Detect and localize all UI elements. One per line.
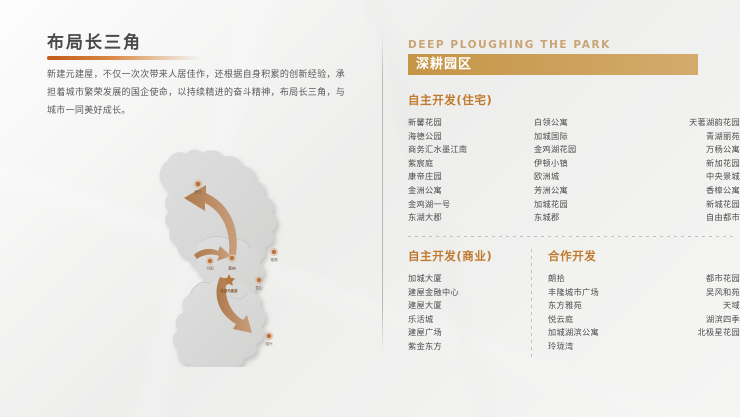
svg-text:昆山: 昆山 [255,285,263,290]
svg-text:丹阳: 丹阳 [206,266,214,271]
section-residential: 自主开发(住宅) 新馨花园 海德公园 商务汇水墨江南 紫宸庭 康帝庄园 金洲公寓… [408,92,740,225]
project-item: 加城大厦 [408,272,459,286]
project-columns: 新馨花园 海德公园 商务汇水墨江南 紫宸庭 康帝庄园 金洲公寓 金鸡湖一号 东湖… [408,116,740,225]
project-item: 金鸡湖一号 [408,198,534,212]
project-item: 乐活城 [408,313,459,327]
section-heading: 合作开发 [548,248,740,264]
project-item: 新馨花园 [408,116,534,130]
project-item: 东湖大郡 [408,211,534,225]
project-item: 天著湖韵花园 [639,116,740,130]
section-cooperation: 合作开发 朗拾 丰隆城市广场 东方雅苑 悦云庭 加城湖滨公寓 玲珑湾 都市花园 … [548,248,740,354]
project-item: 悦云庭 [548,313,648,327]
svg-text:宿迁: 宿迁 [194,189,202,194]
project-item: 东城郡 [534,211,639,225]
english-section-title: DEEP PLOUGHING THE PARK [408,39,611,51]
vertical-dashed-separator [531,249,532,361]
project-column: 朗拾 丰隆城市广场 东方雅苑 悦云庭 加城湖滨公寓 玲珑湾 [548,272,648,354]
svg-text:新建元建屋: 新建元建屋 [221,288,239,293]
project-item: 青湖丽苑 [639,130,740,144]
project-item: 欧洲城 [534,170,639,184]
project-column: 新馨花园 海德公园 商务汇水墨江南 紫宸庭 康帝庄园 金洲公寓 金鸡湖一号 东湖… [408,116,534,225]
svg-text:绍兴: 绍兴 [265,341,273,346]
project-item: 丰隆城市广场 [548,286,648,300]
svg-text:常熟: 常熟 [270,257,278,262]
project-item: 吴风和苑 [648,286,740,300]
project-item: 加城花园 [534,198,639,212]
page-title: 布局长三角 [47,28,142,53]
map-landmass [159,149,276,367]
yangtze-delta-map: 宿迁 丹阳 苏州 常熟 昆山 绍兴 新建元建屋 [128,122,358,367]
project-item: 都市花园 [648,272,740,286]
section-heading: 自主开发(商业) [408,248,528,264]
project-item: 建屋金融中心 [408,286,459,300]
project-column: 都市花园 吴风和苑 天域 湖滨四季 北极星花园 [648,272,740,354]
panel-divider [382,33,383,353]
project-item: 新加花园 [639,157,740,171]
project-columns: 朗拾 丰隆城市广场 东方雅苑 悦云庭 加城湖滨公寓 玲珑湾 都市花园 吴风和苑 … [548,272,740,354]
project-item: 金洲公寓 [408,184,534,198]
project-item: 伊顿小镇 [534,157,639,171]
chinese-section-title: 深耕园区 [416,55,472,74]
project-item: 建屋大厦 [408,299,459,313]
project-column: 加城大厦 建屋金融中心 建屋大厦 乐活城 建屋广场 紫金东方 [408,272,459,354]
project-item: 加城湖滨公寓 [548,326,648,340]
project-item: 白领公寓 [534,116,639,130]
slide-canvas: 布局长三角 新建元建屋，不仅一次次带来人居佳作，还根据自身积累的创新经验，承担着… [0,0,740,417]
project-item: 天域 [648,299,740,313]
project-column: 白领公寓 加城国际 金鸡湖花园 伊顿小镇 欧洲城 芳洲公寓 加城花园 东城郡 [534,116,639,225]
project-item: 海德公园 [408,130,534,144]
project-item: 香樟公寓 [639,184,740,198]
project-item: 中央景城 [639,170,740,184]
section-commercial: 自主开发(商业) 加城大厦 建屋金融中心 建屋大厦 乐活城 建屋广场 紫金东方 [408,248,528,354]
project-item: 紫金东方 [408,340,459,354]
project-columns: 加城大厦 建屋金融中心 建屋大厦 乐活城 建屋广场 紫金东方 [408,272,528,354]
title-underline-rule [47,56,202,60]
project-item: 朗拾 [548,272,648,286]
project-item: 东方雅苑 [548,299,648,313]
project-item: 建屋广场 [408,326,459,340]
intro-paragraph: 新建元建屋，不仅一次次带来人居佳作，还根据自身积累的创新经验，承担着城市繁荣发展… [47,66,345,120]
project-item: 自由都市 [639,211,740,225]
project-item: 万杨公寓 [639,143,740,157]
project-item: 湖滨四季 [648,313,740,327]
project-item: 玲珑湾 [548,340,648,354]
project-item: 北极星花园 [648,326,740,340]
left-panel: 布局长三角 新建元建屋，不仅一次次带来人居佳作，还根据自身积累的创新经验，承担着… [0,0,392,417]
project-item: 康帝庄园 [408,170,534,184]
project-item: 商务汇水墨江南 [408,143,534,157]
project-column: 天著湖韵花园 青湖丽苑 万杨公寓 新加花园 中央景城 香樟公寓 新城花园 自由都… [639,116,740,225]
svg-text:苏州: 苏州 [228,266,236,271]
project-item: 紫宸庭 [408,157,534,171]
project-item: 加城国际 [534,130,639,144]
project-item: 新城花园 [639,198,740,212]
project-item: 金鸡湖花园 [534,143,639,157]
section-heading: 自主开发(住宅) [408,92,740,108]
right-panel: DEEP PLOUGHING THE PARK 深耕园区 自主开发(住宅) 新馨… [408,0,740,417]
horizontal-dashed-separator [408,236,733,237]
project-item: 芳洲公寓 [534,184,639,198]
